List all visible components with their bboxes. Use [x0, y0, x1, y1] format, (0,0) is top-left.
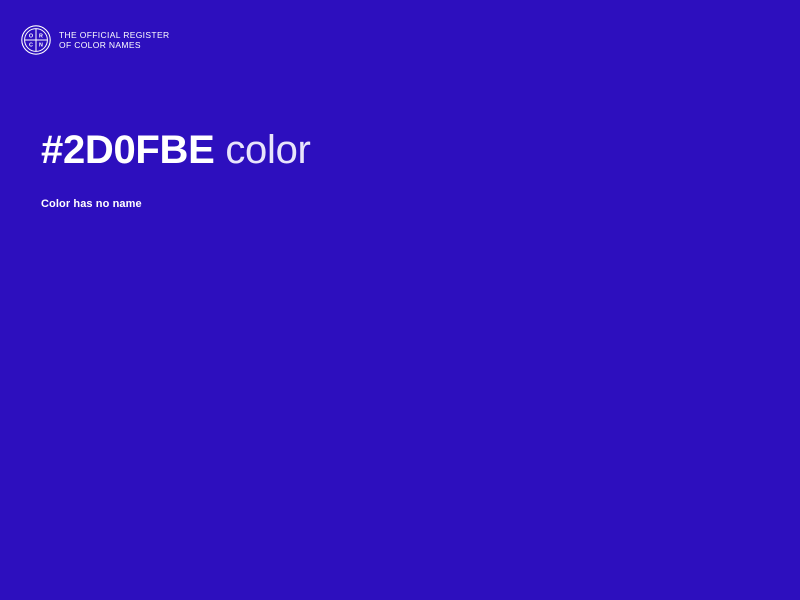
page-title-hex: #2D0FBE [41, 128, 215, 172]
brand-text: THE OFFICIAL REGISTER OF COLOR NAMES [59, 30, 169, 50]
svg-text:R: R [39, 33, 43, 39]
color-name-label: Color has no name [41, 198, 741, 210]
brand-line-2: OF COLOR NAMES [59, 40, 169, 50]
brand-lockup[interactable]: O R C N THE OFFICIAL REGISTER OF COLOR N… [20, 24, 169, 56]
svg-text:O: O [29, 33, 33, 39]
main-content: #2D0FBE color Color has no name [41, 126, 741, 210]
svg-text:N: N [39, 43, 43, 49]
brand-line-1: THE OFFICIAL REGISTER [59, 30, 169, 40]
page-title: #2D0FBE color [41, 126, 741, 174]
svg-text:C: C [29, 43, 33, 49]
page-title-suffix: color [215, 128, 311, 172]
register-seal-icon: O R C N [20, 24, 52, 56]
